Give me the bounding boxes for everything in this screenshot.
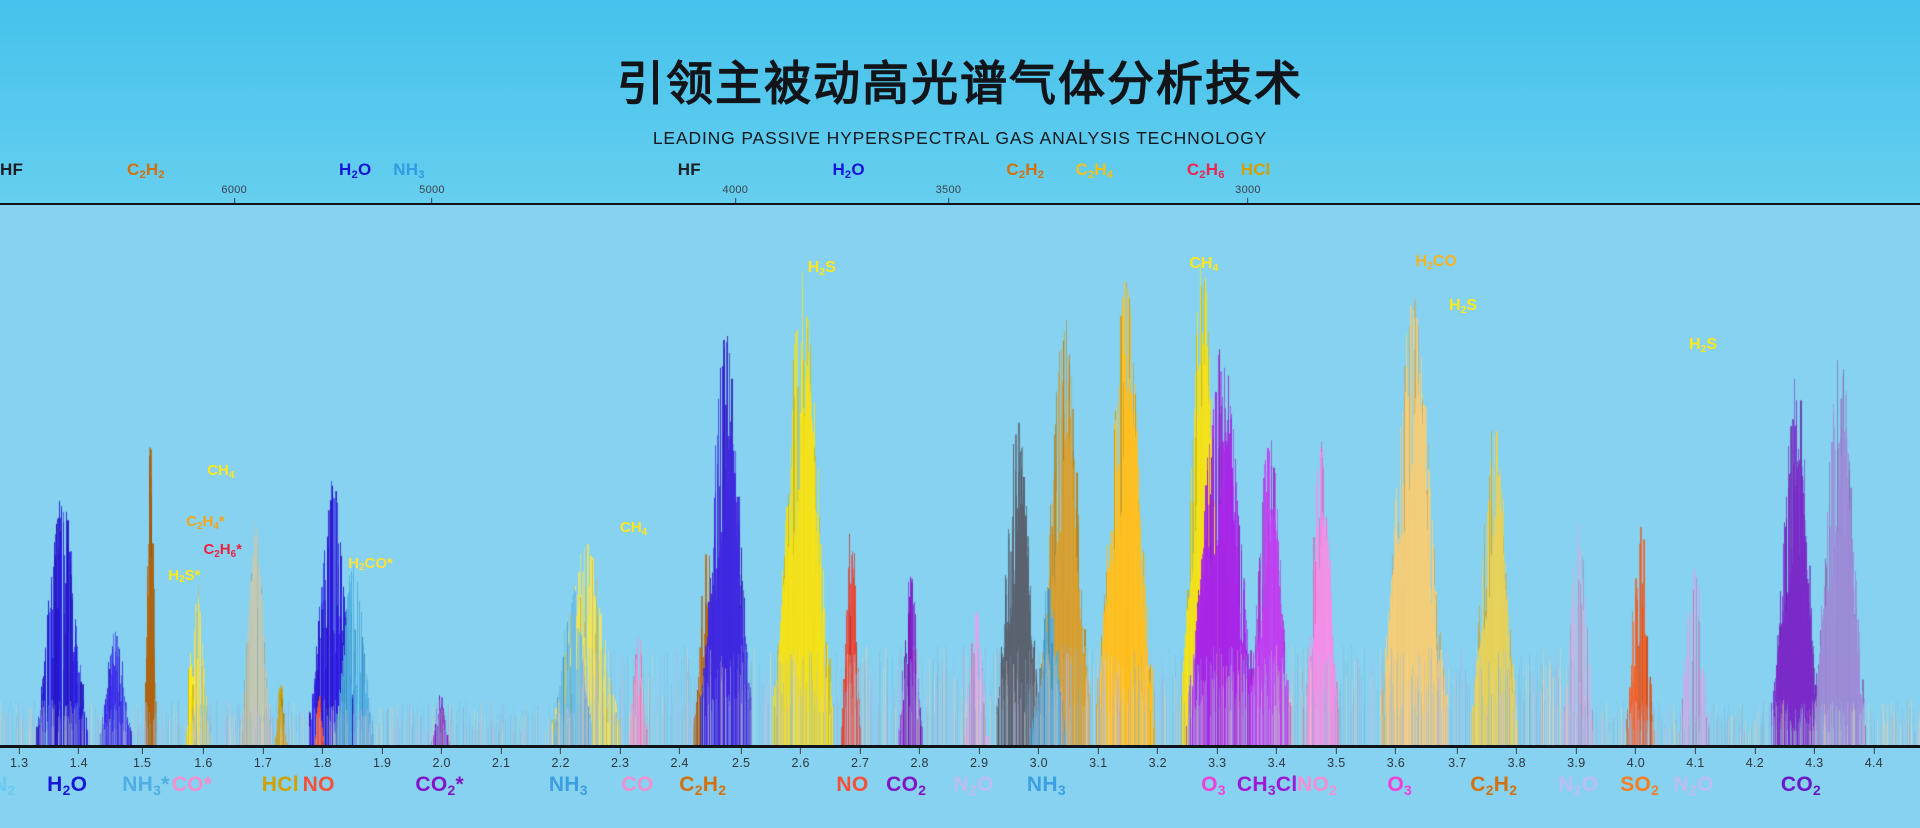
bottom-axis-tick-label: 1.6 [194, 756, 212, 770]
top-axis-wavenumber: 60005000400035003000 [0, 160, 1920, 206]
bottom-axis-tick-label: 1.3 [10, 756, 28, 770]
bottom-axis-tick-mark [741, 748, 742, 754]
bottom-axis-tick-mark [1457, 748, 1458, 754]
bottom-axis-tick-label: 3.8 [1508, 756, 1526, 770]
bottom-axis-tick: 3.6 [1387, 748, 1405, 770]
bottom-axis-tick-mark [1038, 748, 1039, 754]
bottom-axis-tick: 2.5 [732, 748, 750, 770]
bottom-axis-tick-mark [142, 748, 143, 754]
gas-label-bottom-so2: SO2 [1620, 773, 1659, 797]
top-axis-tick-label: 3000 [1235, 184, 1261, 196]
gas-label-bottom-o3: O3 [1201, 773, 1226, 797]
bottom-axis-tick-label: 2.6 [791, 756, 809, 770]
bottom-axis-tick-label: 2.8 [911, 756, 929, 770]
bottom-axis-tick-label: 1.8 [313, 756, 331, 770]
bottom-axis-tick-label: 2.3 [611, 756, 629, 770]
bottom-axis-tick: 4.1 [1686, 748, 1704, 770]
bottom-axis-tick-label: 3.6 [1387, 756, 1405, 770]
gas-label-bottom-n2o: N2O [1558, 773, 1598, 797]
gas-label-bottom-co2: CO2 [886, 773, 926, 797]
bottom-axis-tick-label: 2.0 [432, 756, 450, 770]
bottom-axis-tick-mark [78, 748, 79, 754]
bottom-axis-tick-mark [1157, 748, 1158, 754]
bottom-axis-tick-mark [979, 748, 980, 754]
bottom-axis-tick-label: 3.0 [1030, 756, 1048, 770]
bottom-axis-tick: 2.0 [432, 748, 450, 770]
spectrum-chart: CH4C2H4*C2H6*H2S*H2CO*CH4H2SCH4H2COH2SH2… [0, 205, 1920, 747]
bottom-axis-tick: 3.0 [1030, 748, 1048, 770]
bottom-axis-tick: 3.7 [1448, 748, 1466, 770]
bottom-axis-tick: 2.2 [551, 748, 569, 770]
poster-root: 引领主被动高光谱气体分析技术 LEADING PASSIVE HYPERSPEC… [0, 0, 1920, 828]
bottom-axis-tick-mark [203, 748, 204, 754]
gas-label-bottom-co: CO [621, 773, 653, 797]
bottom-gas-label-row: N2H2ONH3*CO*HClNOCO2*NH3COC2H2NOCO2N2ONH… [0, 773, 1920, 813]
bottom-axis-tick: 4.0 [1627, 748, 1645, 770]
bottom-axis-tick-mark [441, 748, 442, 754]
bottom-axis-tick: 4.2 [1746, 748, 1764, 770]
bottom-axis-tick: 1.7 [254, 748, 272, 770]
bottom-axis-tick-mark [1576, 748, 1577, 754]
bottom-axis-tick: 2.4 [671, 748, 689, 770]
bottom-axis-tick-label: 1.7 [254, 756, 272, 770]
top-axis-tick-label: 5000 [419, 184, 445, 196]
gas-label-bottom-n2o: N2O [1673, 773, 1713, 797]
bottom-axis-tick-label: 3.1 [1089, 756, 1107, 770]
bottom-axis-tick: 2.8 [911, 748, 929, 770]
gas-label-bottom-n2: N2 [0, 773, 16, 797]
bottom-axis-tick-label: 2.7 [851, 756, 869, 770]
bottom-axis-tick-mark [560, 748, 561, 754]
gas-label-bottom-c2h2: C2H2 [1470, 773, 1517, 797]
top-axis-tick-label: 3500 [936, 184, 962, 196]
gas-label-bottom-co: CO* [172, 773, 213, 797]
gas-label-bottom-c2h2: C2H2 [679, 773, 726, 797]
bottom-axis-tick: 3.5 [1327, 748, 1345, 770]
gas-label-bottom-o3: O3 [1387, 773, 1412, 797]
bottom-axis-tick-mark [1098, 748, 1099, 754]
plot-area: CH4C2H4*C2H6*H2S*H2CO*CH4H2SCH4H2COH2SH2… [0, 205, 1920, 747]
bottom-axis-tick: 3.8 [1508, 748, 1526, 770]
bottom-axis-tick-mark [800, 748, 801, 754]
bottom-axis-tick-mark [620, 748, 621, 754]
bottom-axis-tick: 1.3 [10, 748, 28, 770]
bottom-axis-tick: 2.9 [970, 748, 988, 770]
page-subtitle: LEADING PASSIVE HYPERSPECTRAL GAS ANALYS… [0, 112, 1920, 149]
bottom-axis-tick-mark [1217, 748, 1218, 754]
bottom-axis-tick-mark [322, 748, 323, 754]
bottom-axis-tick-mark [1516, 748, 1517, 754]
bottom-axis-tick: 3.2 [1149, 748, 1167, 770]
gas-label-bottom-no2: NO2 [1297, 773, 1337, 797]
bottom-axis-tick-mark [860, 748, 861, 754]
bottom-axis-tick-mark [919, 748, 920, 754]
bottom-axis-tick-mark [1814, 748, 1815, 754]
bottom-axis-tick-label: 2.4 [671, 756, 689, 770]
top-axis-tick-label: 6000 [221, 184, 247, 196]
bottom-axis-tick-mark [1635, 748, 1636, 754]
gas-label-bottom-ch3cl: CH3Cl [1237, 773, 1298, 797]
gas-label-bottom-no: NO [836, 773, 868, 797]
bottom-axis-tick-mark [382, 748, 383, 754]
bottom-axis-tick: 1.9 [373, 748, 391, 770]
bottom-axis-tick-label: 3.9 [1567, 756, 1585, 770]
bottom-axis-tick-label: 4.4 [1865, 756, 1883, 770]
top-axis-tick-label: 4000 [723, 184, 749, 196]
bottom-axis-tick: 2.7 [851, 748, 869, 770]
bottom-axis-tick: 4.3 [1805, 748, 1823, 770]
bottom-axis-tick-label: 1.5 [133, 756, 151, 770]
bottom-axis-tick-label: 3.4 [1268, 756, 1286, 770]
bottom-axis-tick-label: 4.0 [1627, 756, 1645, 770]
gas-label-bottom-nh3: NH3* [122, 773, 169, 797]
gas-label-bottom-nh3: NH3 [1027, 773, 1066, 797]
bottom-axis-tick: 1.8 [313, 748, 331, 770]
bottom-axis-tick-mark [679, 748, 680, 754]
gas-label-bottom-h2o: H2O [47, 773, 87, 797]
bottom-axis-tick: 2.1 [492, 748, 510, 770]
gas-label-bottom-co2: CO2* [415, 773, 464, 797]
bottom-axis-tick-label: 3.7 [1448, 756, 1466, 770]
bottom-axis-tick: 3.9 [1567, 748, 1585, 770]
bottom-axis-tick-mark [1873, 748, 1874, 754]
bottom-axis-tick: 1.5 [133, 748, 151, 770]
bottom-axis-tick-label: 4.2 [1746, 756, 1764, 770]
bottom-axis-tick-mark [19, 748, 20, 754]
bottom-axis-tick-mark [1336, 748, 1337, 754]
bottom-axis-tick-mark [1754, 748, 1755, 754]
bottom-axis-tick-label: 2.2 [551, 756, 569, 770]
bottom-axis-tick-label: 3.3 [1208, 756, 1226, 770]
bottom-axis-tick-label: 1.4 [70, 756, 88, 770]
gas-label-bottom-n2o: N2O [953, 773, 993, 797]
bottom-axis-tick: 2.6 [791, 748, 809, 770]
bottom-axis-tick: 3.1 [1089, 748, 1107, 770]
gas-label-bottom-nh3: NH3 [549, 773, 588, 797]
bottom-axis-tick-label: 1.9 [373, 756, 391, 770]
gas-label-bottom-co2: CO2 [1781, 773, 1821, 797]
bottom-axis-tick: 3.3 [1208, 748, 1226, 770]
bottom-axis-tick-mark [263, 748, 264, 754]
bottom-axis-tick: 2.3 [611, 748, 629, 770]
spectrum-canvas [0, 205, 1920, 747]
bottom-axis-tick-label: 4.3 [1805, 756, 1823, 770]
bottom-axis-tick: 4.4 [1865, 748, 1883, 770]
gas-label-bottom-no: NO [303, 773, 335, 797]
gas-label-bottom-hcl: HCl [262, 773, 299, 797]
bottom-axis-tick-mark [501, 748, 502, 754]
page-title: 引领主被动高光谱气体分析技术 [0, 0, 1920, 112]
bottom-axis-tick: 1.4 [70, 748, 88, 770]
bottom-axis-tick-label: 4.1 [1686, 756, 1704, 770]
bottom-axis-tick-label: 2.5 [732, 756, 750, 770]
bottom-axis-tick-label: 2.9 [970, 756, 988, 770]
bottom-axis-tick: 3.4 [1268, 748, 1286, 770]
bottom-axis-tick: 1.6 [194, 748, 212, 770]
bottom-axis-tick-label: 3.2 [1149, 756, 1167, 770]
bottom-axis-tick-label: 3.5 [1327, 756, 1345, 770]
bottom-axis-tick-mark [1695, 748, 1696, 754]
bottom-axis-tick-label: 2.1 [492, 756, 510, 770]
bottom-axis-tick-mark [1395, 748, 1396, 754]
bottom-axis-tick-mark [1276, 748, 1277, 754]
